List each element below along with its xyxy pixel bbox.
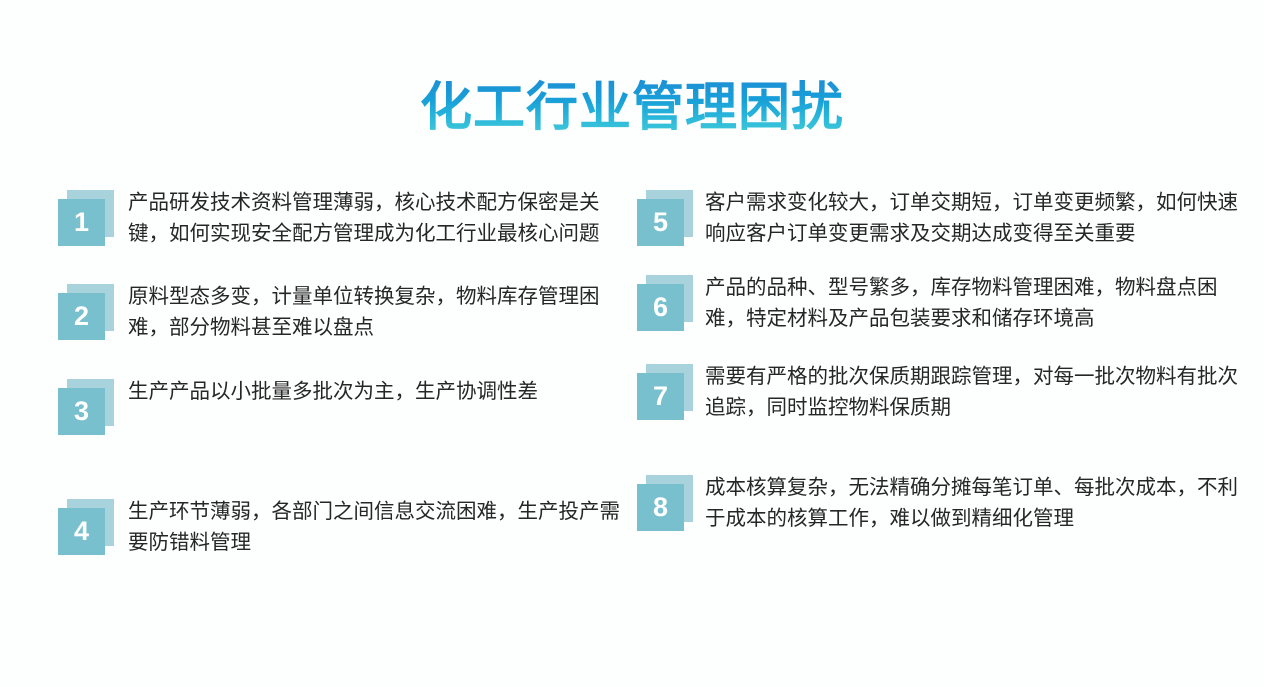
list-item-text: 需要有严格的批次保质期跟踪管理，对每一批次物料有批次追踪，同时监控物料保质期 [705, 360, 1240, 423]
list-item: 8 成本核算复杂，无法精确分摊每笔订单、每批次成本，不利于成本的核算工作，难以做… [637, 471, 1240, 534]
list-item-text: 原料型态多变，计量单位转换复杂，物料库存管理困难，部分物料甚至难以盘点 [128, 280, 622, 343]
content-columns: 1 产品研发技术资料管理薄弱，核心技术配方保密是关键，如何实现安全配方管理成为化… [0, 186, 1264, 686]
list-item: 7 需要有严格的批次保质期跟踪管理，对每一批次物料有批次追踪，同时监控物料保质期 [637, 360, 1240, 423]
badge-front-square: 5 [637, 199, 684, 246]
list-item: 3 生产产品以小批量多批次为主，生产协调性差 [58, 375, 622, 435]
badge-number: 3 [74, 398, 89, 425]
badge-front-square: 6 [637, 284, 684, 331]
list-item-text: 成本核算复杂，无法精确分摊每笔订单、每批次成本，不利于成本的核算工作，难以做到精… [705, 471, 1240, 534]
badge-front-square: 2 [58, 293, 105, 340]
page-title: 化工行业管理困扰 [0, 79, 1264, 139]
badge-number: 8 [653, 494, 668, 521]
badge-front-square: 7 [637, 373, 684, 420]
number-badge: 7 [637, 364, 693, 420]
list-item: 4 生产环节薄弱，各部门之间信息交流困难，生产投产需要防错料管理 [58, 495, 622, 558]
number-badge: 6 [637, 275, 693, 331]
list-item-text: 产品的品种、型号繁多，库存物料管理困难，物料盘点困难，特定材料及产品包装要求和储… [705, 271, 1240, 334]
badge-number: 7 [653, 383, 668, 410]
badge-number: 1 [74, 209, 89, 236]
badge-number: 4 [74, 518, 89, 545]
number-badge: 1 [58, 190, 114, 246]
badge-front-square: 4 [58, 508, 105, 555]
list-item: 5 客户需求变化较大，订单交期短，订单变更频繁，如何快速响应客户订单变更需求及交… [637, 186, 1240, 249]
badge-front-square: 3 [58, 388, 105, 435]
list-item: 2 原料型态多变，计量单位转换复杂，物料库存管理困难，部分物料甚至难以盘点 [58, 280, 622, 343]
list-item-text: 客户需求变化较大，订单交期短，订单变更频繁，如何快速响应客户订单变更需求及交期达… [705, 186, 1240, 249]
list-item-text: 生产环节薄弱，各部门之间信息交流困难，生产投产需要防错料管理 [128, 495, 622, 558]
badge-front-square: 8 [637, 484, 684, 531]
list-item: 6 产品的品种、型号繁多，库存物料管理困难，物料盘点困难，特定材料及产品包装要求… [637, 271, 1240, 334]
column-left: 1 产品研发技术资料管理薄弱，核心技术配方保密是关键，如何实现安全配方管理成为化… [0, 186, 632, 686]
number-badge: 3 [58, 379, 114, 435]
badge-front-square: 1 [58, 199, 105, 246]
column-right: 5 客户需求变化较大，订单交期短，订单变更频繁，如何快速响应客户订单变更需求及交… [632, 186, 1264, 686]
number-badge: 4 [58, 499, 114, 555]
badge-number: 6 [653, 294, 668, 321]
list-item: 1 产品研发技术资料管理薄弱，核心技术配方保密是关键，如何实现安全配方管理成为化… [58, 186, 622, 249]
badge-number: 5 [653, 209, 668, 236]
number-badge: 2 [58, 284, 114, 340]
badge-number: 2 [74, 303, 89, 330]
list-item-text: 产品研发技术资料管理薄弱，核心技术配方保密是关键，如何实现安全配方管理成为化工行… [128, 186, 622, 249]
list-item-text: 生产产品以小批量多批次为主，生产协调性差 [128, 375, 622, 407]
number-badge: 8 [637, 475, 693, 531]
number-badge: 5 [637, 190, 693, 246]
